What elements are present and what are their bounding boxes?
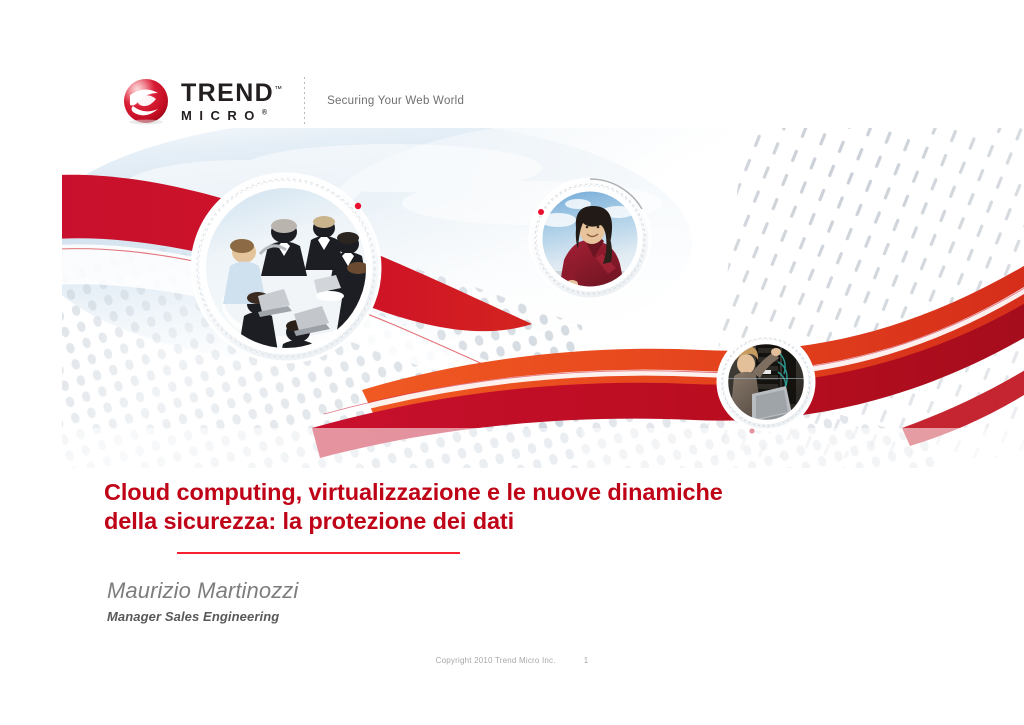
- presentation-slide: TREND™ MICRO® Securing Your Web World Cl…: [0, 0, 1024, 725]
- registered-mark: ®: [262, 109, 267, 116]
- photo-marker-dot: [538, 209, 544, 215]
- presenter-role: Manager Sales Engineering: [107, 609, 279, 624]
- brand-wordmark-trend: TREND™: [181, 81, 282, 106]
- title-underline-rule: [177, 552, 460, 554]
- copyright-notice: Copyright 2010 Trend Micro Inc.: [436, 656, 556, 665]
- brand-logo: TREND™ MICRO® Securing Your Web World: [120, 72, 464, 130]
- brand-tagline: Securing Your Web World: [327, 95, 464, 107]
- trend-micro-globe-icon: [120, 75, 172, 127]
- hero-banner: [62, 128, 1024, 468]
- slide-title: Cloud computing, virtualizzazione e le n…: [104, 478, 764, 536]
- logo-divider: [304, 77, 305, 125]
- photo-woman-with-laptop: [530, 179, 650, 299]
- trademark-mark: ™: [274, 84, 282, 93]
- brand-wordmark: TREND™ MICRO®: [181, 81, 282, 122]
- brand-wordmark-trend-text: TREND: [181, 79, 274, 107]
- page-number: 1: [584, 656, 589, 665]
- hero-artwork: [62, 128, 1024, 468]
- presenter-name: Maurizio Martinozzi: [107, 578, 298, 604]
- photo-marker-dot: [355, 203, 361, 209]
- brand-wordmark-micro-text: MICRO: [181, 108, 262, 123]
- brand-wordmark-micro: MICRO®: [181, 109, 282, 122]
- slide-footer: Copyright 2010 Trend Micro Inc. 1: [0, 656, 1024, 665]
